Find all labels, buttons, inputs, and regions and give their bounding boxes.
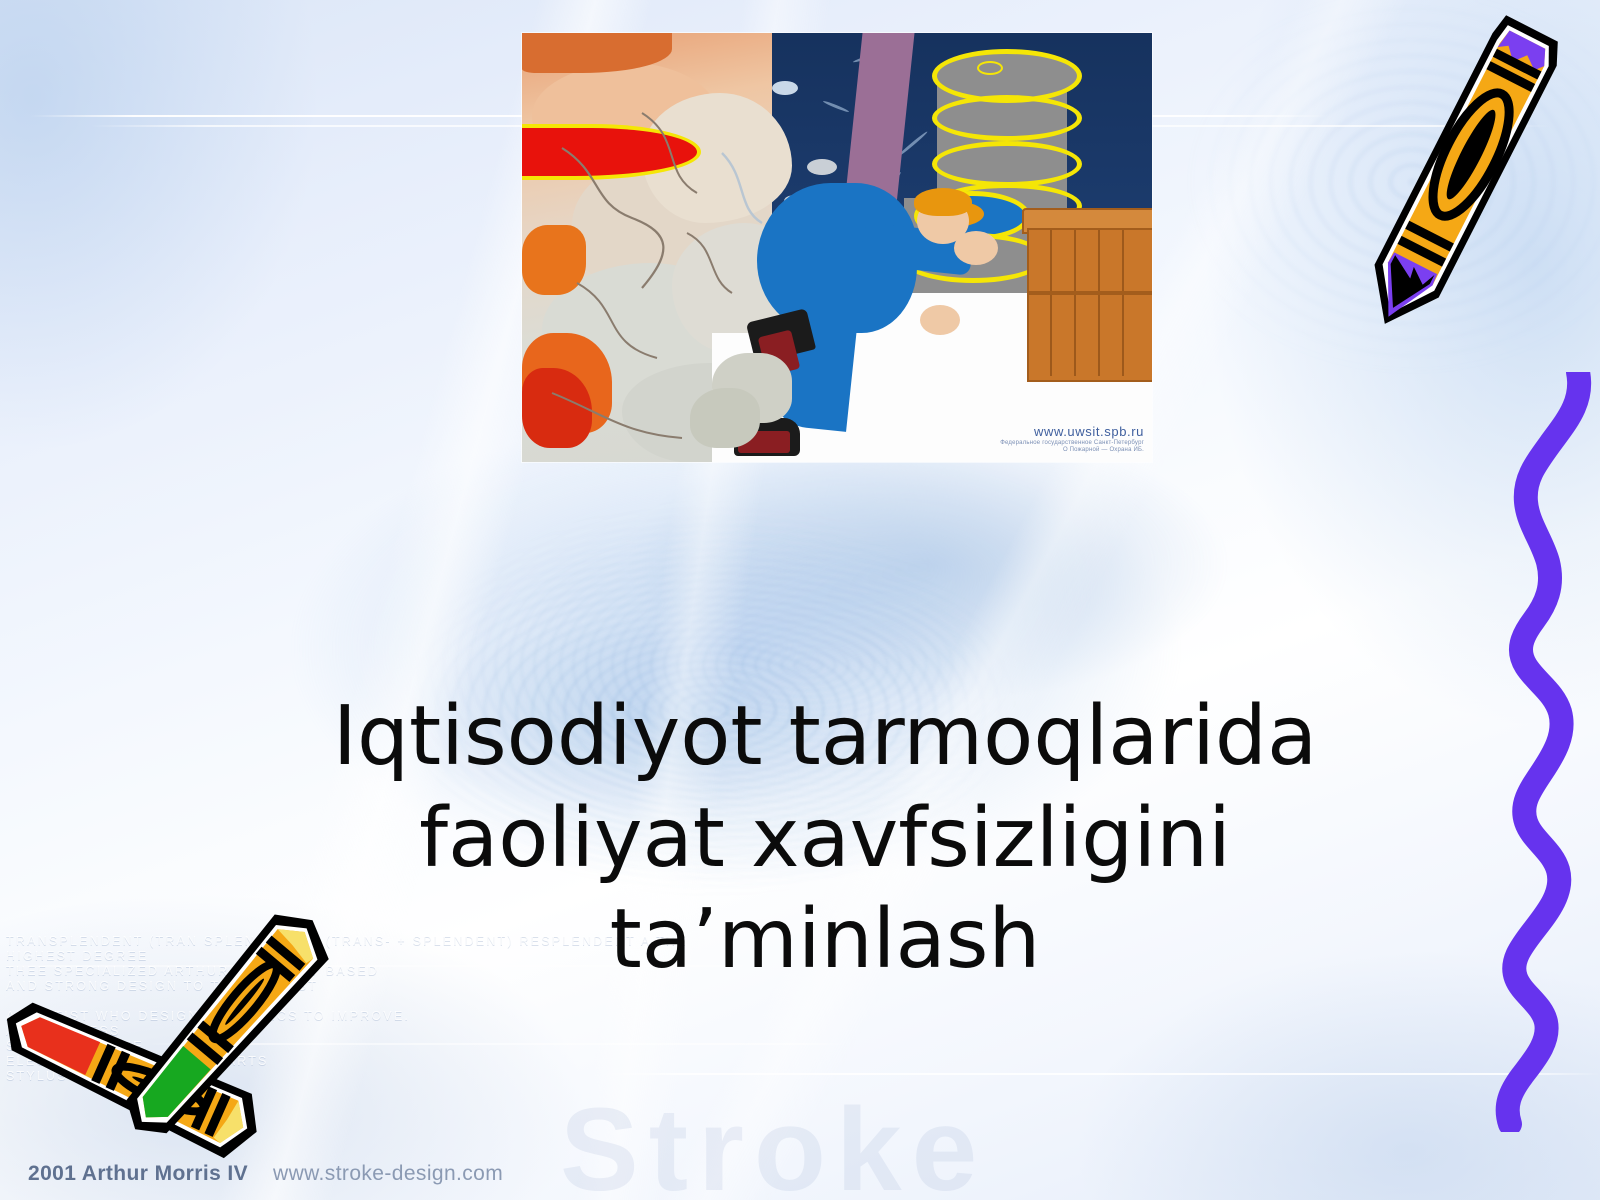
footer-copyright: 2001 Arthur Morris IV <box>28 1162 248 1185</box>
illustration-crate-slat <box>1074 230 1076 376</box>
illustration-smoke-overlap <box>690 388 760 448</box>
illustration-crate-slat <box>1098 230 1100 376</box>
illustration-crate-slat <box>1050 230 1052 376</box>
purple-wavy-line-icon <box>1438 372 1598 1132</box>
illustration-crate-slat <box>1122 230 1124 376</box>
illustration-barrel-ring <box>932 95 1082 141</box>
slide-footer: 2001 Arthur Morris IV www.stroke-design.… <box>28 1162 503 1186</box>
illustration-watermark-url: www.uwsit.spb.ru <box>1000 425 1144 440</box>
presentation-slide: Stroke TRANSPLENDENT (TRAN SPLENDENT) A … <box>0 0 1600 1200</box>
illustration-worker-cap <box>914 188 972 216</box>
fire-safety-illustration[interactable]: www.uwsit.spb.ru Федеральное государстве… <box>522 33 1152 462</box>
slide-title-line-1: Iqtisodiyot tarmoqlarida <box>180 686 1470 788</box>
illustration-barrel-cap <box>977 61 1003 75</box>
green-orange-crayon-icon <box>105 928 405 1158</box>
illustration-crate <box>1027 228 1152 382</box>
footer-website: www.stroke-design.com <box>273 1162 503 1185</box>
illustration-barrel-ring <box>932 141 1082 187</box>
illustration-watermark-subline-2: О Пожарной — Охрана ИБ. <box>1000 447 1144 454</box>
slide-title-line-2: faoliyat xavfsizligini <box>180 788 1470 890</box>
illustration-worker-hand-lower <box>920 305 960 335</box>
purple-orange-crayon-icon <box>1302 0 1600 392</box>
background-ghost-wordmark: Stroke <box>560 1082 987 1200</box>
illustration-crate-band <box>1027 291 1152 295</box>
illustration-watermark: www.uwsit.spb.ru Федеральное государстве… <box>1000 425 1144 454</box>
